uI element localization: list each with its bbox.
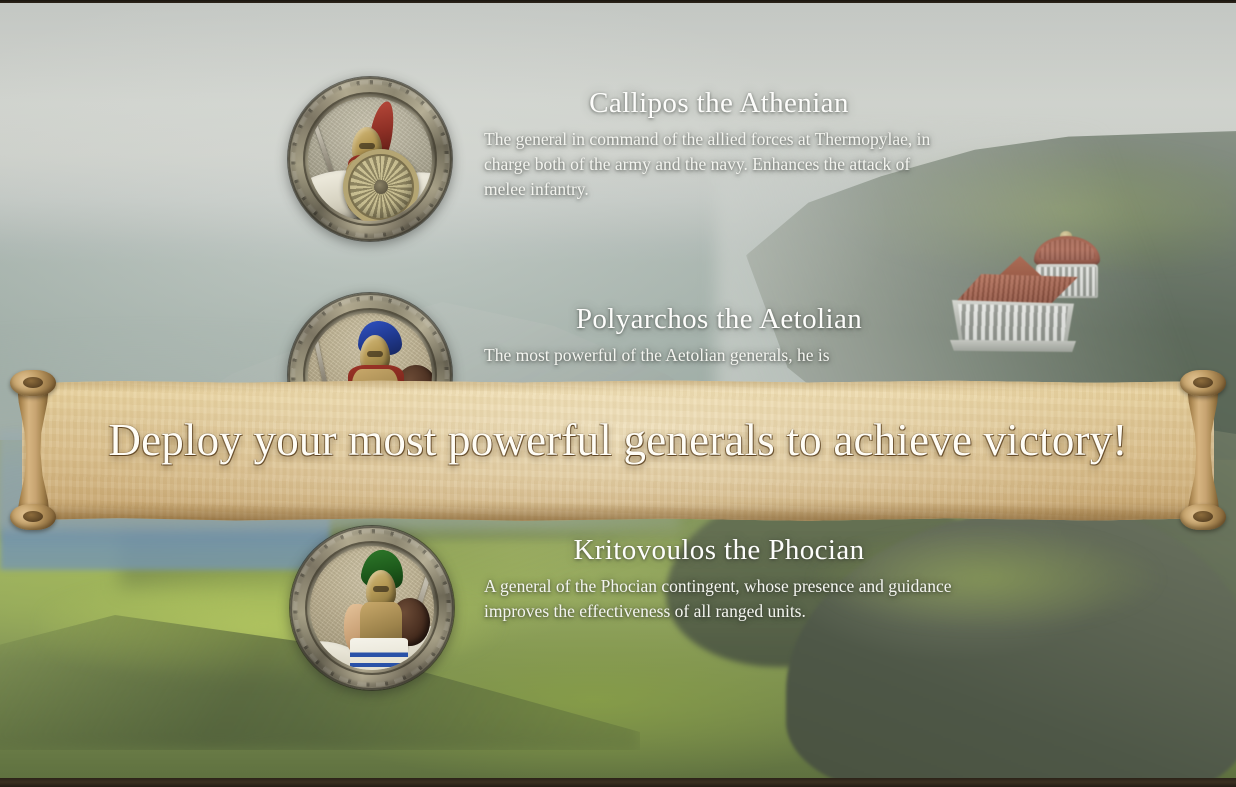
general-entry-kritovoulos: Kritovoulos the Phocian A general of the…	[290, 526, 954, 690]
parchment-bottom-edge	[22, 502, 1214, 524]
parchment-top-edge	[22, 376, 1214, 392]
hoplite-portrait-icon	[288, 77, 452, 241]
greek-temple-icon	[948, 230, 1108, 350]
general-description: The general in command of the allied for…	[484, 127, 954, 202]
loading-tip-text: Deploy your most powerful generals to ac…	[0, 414, 1236, 466]
temple-steps	[950, 340, 1076, 352]
general-text-block: Polyarchos the Aetolian The most powerfu…	[484, 303, 954, 368]
hoplite-portrait-icon	[290, 526, 454, 690]
general-description: A general of the Phocian contingent, who…	[484, 574, 954, 624]
general-name: Callipos the Athenian	[484, 87, 954, 120]
general-text-block: Callipos the Athenian The general in com…	[484, 87, 954, 202]
scroll-cap-bottom	[1180, 504, 1226, 530]
general-description: The most powerful of the Aetolian genera…	[484, 343, 954, 368]
frame-bottom-border	[0, 778, 1236, 787]
scroll-cap-hole	[23, 511, 43, 522]
medallion-inner-rim	[305, 94, 435, 224]
temple-roof	[954, 274, 1078, 304]
scroll-cap-hole	[1193, 511, 1213, 522]
scroll-cap-bottom	[10, 504, 56, 530]
tip-scroll-banner: Deploy your most powerful generals to ac…	[0, 370, 1236, 530]
scroll-cap-top	[10, 370, 56, 396]
frame-top-border	[0, 0, 1236, 3]
loading-screen: Callipos the Athenian The general in com…	[0, 0, 1236, 787]
general-text-block: Kritovoulos the Phocian A general of the…	[484, 534, 954, 624]
temple-colonnade	[952, 300, 1074, 346]
scroll-cap-top	[1180, 370, 1226, 396]
tholos-temple-icon	[1034, 236, 1100, 266]
medallion-inner-rim	[307, 543, 437, 673]
general-entry-callipos: Callipos the Athenian The general in com…	[288, 77, 954, 241]
scroll-cap-hole	[23, 377, 43, 388]
general-name: Kritovoulos the Phocian	[484, 534, 954, 567]
scroll-cap-hole	[1193, 377, 1213, 388]
general-name: Polyarchos the Aetolian	[484, 303, 954, 336]
